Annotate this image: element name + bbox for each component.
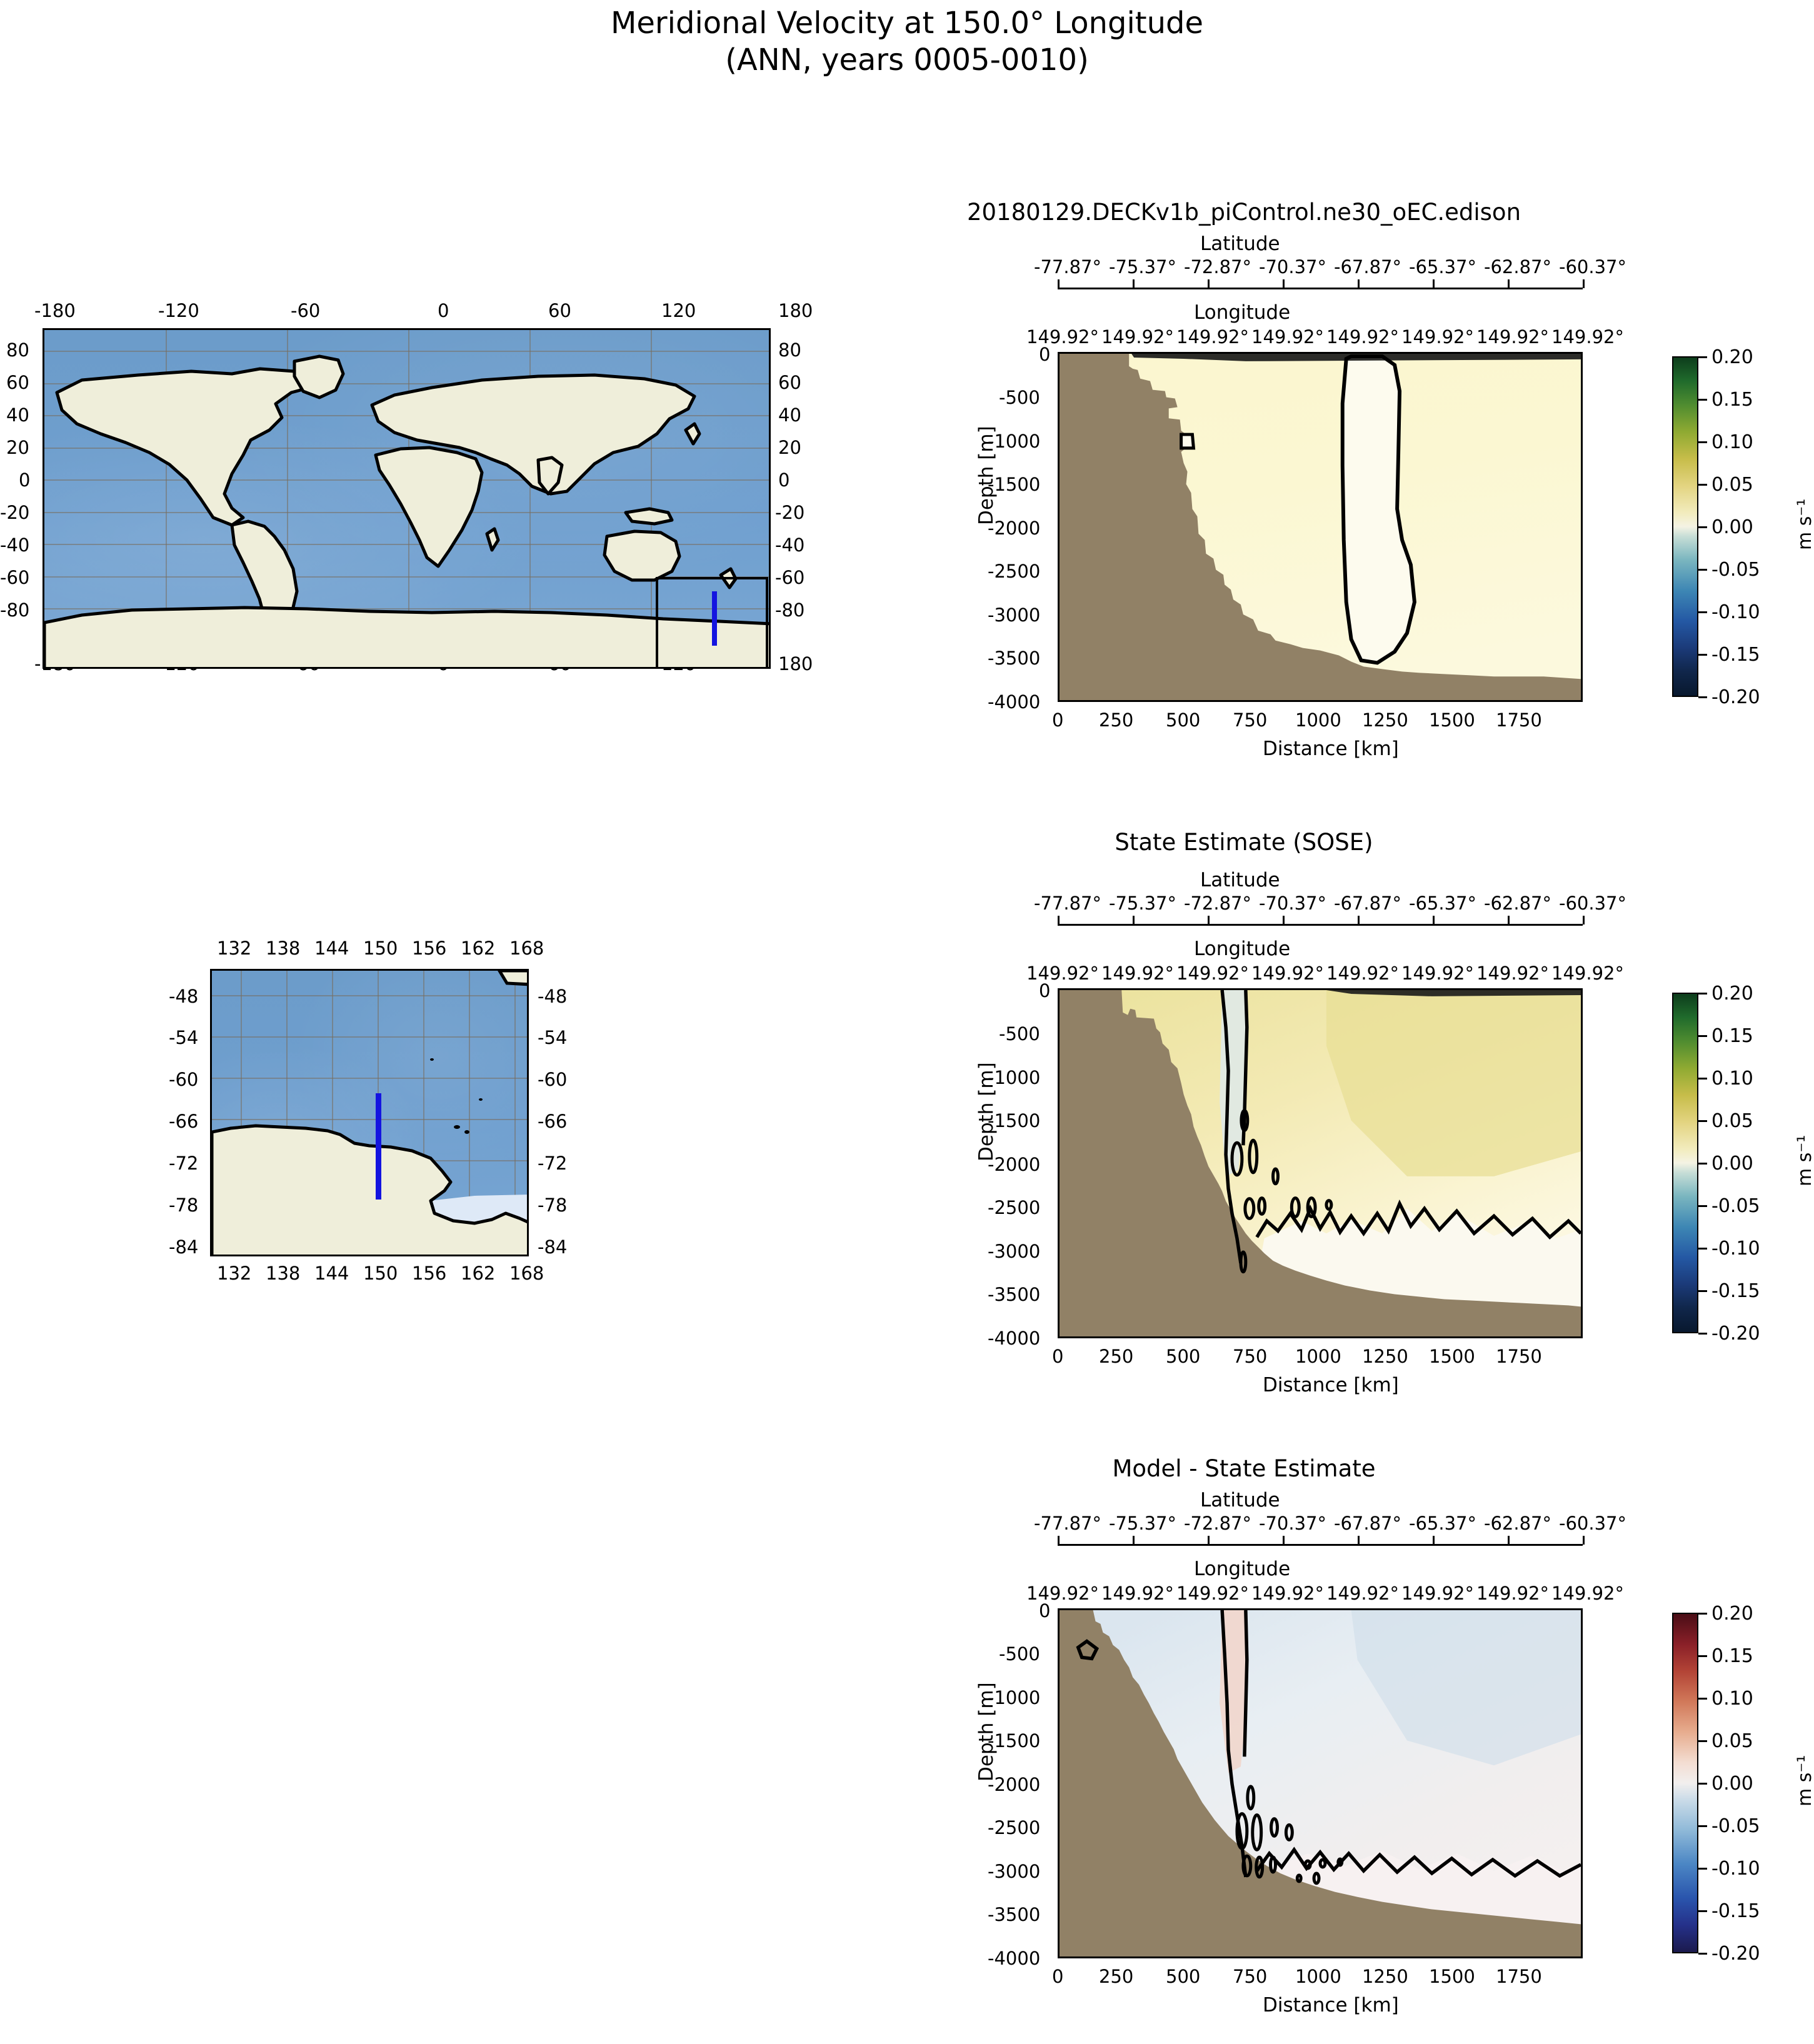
distance-axis-label: Distance [km] (1263, 1374, 1399, 1396)
depth-tick-label: -3500 (988, 1904, 1040, 1925)
world-xtick-label: -120 (158, 300, 199, 321)
region-ytick-label-left: -54 (169, 1027, 198, 1048)
top-axis-label: Latitude (1200, 869, 1280, 891)
antarctic-coastline-layer (212, 971, 529, 1256)
world-ytick-label-right: 0 (778, 469, 789, 491)
region-ytick-label-left: -78 (169, 1195, 198, 1216)
latitude-tick-label: -62.87° (1484, 1513, 1551, 1534)
world-ytick-label-right: -20 (775, 502, 804, 523)
distance-axis-label: Distance [km] (1263, 738, 1399, 760)
colorbar-tick (1698, 1910, 1707, 1912)
axis-tick (1583, 916, 1585, 924)
latitude-tick-label: -70.37° (1259, 1513, 1326, 1534)
colorbar-tick-label: -0.10 (1711, 1858, 1760, 1880)
colorbar-tick (1698, 654, 1707, 656)
colorbar-tick (1698, 1868, 1707, 1870)
colorbar-tick-label: -0.20 (1711, 1323, 1760, 1345)
panel-title: State Estimate (SOSE) (863, 829, 1625, 856)
latitude-axis-spine (1058, 1544, 1583, 1546)
colorbar-tick (1698, 696, 1707, 698)
depth-tick-label: -2500 (988, 1817, 1040, 1838)
world-ytick-label-left: 60 (6, 372, 29, 393)
region-ytick-label-right: -72 (538, 1153, 567, 1174)
axis-tick (1358, 1536, 1360, 1545)
region-ytick-label-right: -84 (538, 1236, 567, 1258)
longitude-tick-label: 149.92° (1551, 326, 1624, 348)
suptitle-line2: (ANN, years 0005-0010) (725, 43, 1089, 78)
colorbar-tick (1698, 484, 1707, 486)
velocity-difference-field (1060, 1610, 1581, 1958)
colorbar-tick-label: 0.15 (1711, 389, 1753, 411)
region-selection-box[interactable] (656, 577, 768, 669)
region-xtick-label-bottom: 168 (509, 1263, 544, 1284)
colorbar-tick-label: -0.10 (1711, 601, 1760, 623)
latitude-tick-label: -60.37° (1559, 256, 1626, 278)
latitude-tick-label: -75.37° (1109, 893, 1176, 914)
distance-tick-label: 1250 (1362, 1966, 1408, 1987)
latitude-axis-spine (1058, 288, 1583, 289)
depth-tick-label: -1500 (988, 1730, 1040, 1751)
world-ytick-label-left: -20 (0, 502, 29, 523)
latitude-tick-label: -67.87° (1334, 893, 1401, 914)
colorbar-tick (1698, 399, 1707, 401)
latitude-axis-spine (1058, 924, 1583, 926)
colorbar-tick (1698, 569, 1707, 571)
colorbar-tick-label: 0.00 (1711, 1773, 1753, 1795)
colorbar-tick-label: -0.05 (1711, 1815, 1760, 1837)
distance-axis-label: Distance [km] (1263, 1994, 1399, 2016)
region-xtick-label: 132 (217, 938, 251, 959)
distance-tick-label: 500 (1166, 1346, 1200, 1367)
depth-tick-label: -1500 (988, 1110, 1040, 1131)
distance-tick-label: 750 (1233, 1346, 1267, 1367)
latitude-tick-label: -65.37° (1409, 1513, 1476, 1534)
top-axis-label: Latitude (1200, 1489, 1280, 1511)
sose-section-axes[interactable] (1058, 988, 1583, 1338)
second-axis-label: Longitude (1194, 1558, 1290, 1580)
colorbar-tick-label: 0.00 (1711, 1153, 1753, 1175)
region-xtick-label-bottom: 132 (217, 1263, 251, 1284)
longitude-tick-label: 149.92° (1026, 326, 1099, 348)
depth-tick-label: -4000 (988, 691, 1040, 713)
latitude-tick-label: -62.87° (1484, 256, 1551, 278)
colorbar-tick-label: 0.05 (1711, 1730, 1753, 1752)
colorbar-tick-label: 0.15 (1711, 1645, 1753, 1667)
axis-tick (1208, 279, 1210, 288)
world-xtick-label-bottom: 180 (778, 653, 813, 674)
difference-section-panel: Model - State Estimate Latitude -77.87° … (863, 1444, 1813, 2006)
world-ytick-label-left: -80 (0, 599, 29, 621)
region-ytick-label-left: -66 (169, 1111, 198, 1132)
axis-tick (1508, 1536, 1510, 1545)
figure-canvas: Meridional Velocity at 150.0° Longitude(… (0, 0, 1814, 2044)
sose-section-panel: State Estimate (SOSE) Latitude -77.87° -… (863, 825, 1813, 1388)
colorbar-tick (1698, 993, 1707, 994)
depth-tick-label: -3500 (988, 648, 1040, 669)
region-ytick-label-right: -48 (538, 986, 567, 1007)
region-ytick-label-left: -48 (169, 986, 198, 1007)
longitude-tick-label: 149.92° (1026, 1583, 1099, 1604)
world-xtick-label: 180 (778, 300, 813, 321)
delta-colorbar[interactable] (1672, 993, 1698, 1333)
region-xtick-label: 156 (412, 938, 446, 959)
distance-tick-label: 250 (1099, 1346, 1133, 1367)
axis-tick (1133, 1536, 1135, 1545)
world-map-axes[interactable] (43, 328, 771, 669)
latitude-tick-label: -65.37° (1409, 256, 1476, 278)
panel-title: 20180129.DECKv1b_piControl.ne30_oEC.edis… (863, 199, 1625, 226)
region-ytick-label-right: -54 (538, 1027, 567, 1048)
axis-tick (1508, 279, 1510, 288)
colorbar-tick (1698, 1655, 1707, 1657)
transect-line (376, 1093, 381, 1200)
depth-tick-label: -3000 (988, 1861, 1040, 1882)
colorbar-tick-label: -0.15 (1711, 1280, 1760, 1302)
difference-colorbar[interactable] (1672, 1613, 1698, 1953)
axis-tick (1583, 279, 1585, 288)
world-ytick-label-left: 40 (6, 404, 29, 426)
depth-tick-label: -3500 (988, 1284, 1040, 1305)
depth-tick-label: -4000 (988, 1948, 1040, 1969)
depth-tick-label: -1000 (988, 431, 1040, 452)
colorbar-tick-label: 0.20 (1711, 346, 1753, 368)
colorbar-tick (1698, 1698, 1707, 1700)
region-xtick-label-bottom: 156 (412, 1263, 446, 1284)
distance-tick-label: 1250 (1362, 709, 1408, 731)
latitude-tick-label: -77.87° (1034, 256, 1101, 278)
depth-tick-label: -3000 (988, 1241, 1040, 1262)
colorbar-tick-label: 0.15 (1711, 1025, 1753, 1047)
world-ytick-label-left: -40 (0, 534, 29, 556)
axis-tick (1508, 916, 1510, 924)
longitude-tick-label: 149.92° (1176, 1583, 1249, 1604)
colorbar-unit-label: m s⁻¹ (1794, 499, 1814, 550)
depth-tick-label: 0 (1039, 980, 1050, 1001)
colorbar-tick-label: -0.15 (1711, 1900, 1760, 1922)
distance-tick-label: 0 (1052, 1966, 1063, 1987)
world-ytick-label-right: 40 (778, 404, 801, 426)
colorbar-tick (1698, 1078, 1707, 1080)
latitude-tick-label: -72.87° (1184, 1513, 1251, 1534)
second-axis-label: Longitude (1194, 301, 1290, 324)
longitude-tick-label: 149.92° (1476, 1583, 1549, 1604)
longitude-tick-label: 149.92° (1551, 963, 1624, 984)
colorbar-tick-label: -0.15 (1711, 644, 1760, 666)
longitude-tick-label: 149.92° (1101, 326, 1174, 348)
region-map-axes[interactable] (210, 969, 529, 1256)
figure-suptitle: Meridional Velocity at 150.0° Longitude(… (0, 5, 1814, 78)
latitude-tick-label: -72.87° (1184, 893, 1251, 914)
colorbar-unit-label: m s⁻¹ (1794, 1135, 1814, 1186)
region-xtick-label-bottom: 138 (266, 1263, 300, 1284)
latitude-tick-label: -77.87° (1034, 1513, 1101, 1534)
longitude-tick-label: 149.92° (1251, 1583, 1324, 1604)
latitude-tick-label: -60.37° (1559, 893, 1626, 914)
longitude-tick-label: 149.92° (1176, 963, 1249, 984)
colorbar-tick (1698, 1953, 1707, 1955)
depth-tick-label: -500 (999, 387, 1040, 408)
longitude-tick-label: 149.92° (1251, 326, 1324, 348)
depth-tick-label: -2000 (988, 518, 1040, 539)
depth-tick-label: -2000 (988, 1774, 1040, 1795)
colorbar-tick (1698, 1205, 1707, 1207)
world-ytick-label-left: 0 (19, 469, 30, 491)
colorbar-tick-label: 0.10 (1711, 1068, 1753, 1090)
longitude-tick-label: 149.92° (1476, 326, 1549, 348)
world-xtick-label: 0 (438, 300, 449, 321)
colorbar-tick-label: 0.20 (1711, 983, 1753, 1004)
colorbar-tick-label: 0.05 (1711, 474, 1753, 496)
distance-tick-label: 1750 (1496, 709, 1542, 731)
latitude-tick-label: -72.87° (1184, 256, 1251, 278)
axis-tick (1433, 1536, 1435, 1545)
axis-tick (1433, 916, 1435, 924)
world-ytick-label-right: -80 (775, 599, 804, 621)
region-xtick-label-bottom: 150 (363, 1263, 398, 1284)
longitude-tick-label: 149.92° (1101, 963, 1174, 984)
longitude-tick-label: 149.92° (1176, 326, 1249, 348)
depth-tick-label: -1000 (988, 1687, 1040, 1708)
longitude-tick-label: 149.92° (1401, 1583, 1474, 1604)
axis-tick (1358, 916, 1360, 924)
latitude-tick-label: -67.87° (1334, 1513, 1401, 1534)
world-ytick-label-left: 80 (6, 339, 29, 361)
latitude-tick-label: -60.37° (1559, 1513, 1626, 1534)
region-xtick-label: 168 (509, 938, 544, 959)
colorbar-tick (1698, 1740, 1707, 1742)
colorbar-tick-label: 0.05 (1711, 1110, 1753, 1132)
top-axis-label: Latitude (1200, 233, 1280, 255)
axis-tick (1358, 279, 1360, 288)
world-xtick-label: -180 (34, 300, 76, 321)
difference-section-axes[interactable] (1058, 1608, 1583, 1958)
distance-tick-label: 1500 (1429, 1346, 1475, 1367)
colorbar-tick (1698, 611, 1707, 613)
latitude-tick-label: -62.87° (1484, 893, 1551, 914)
longitude-tick-label: 149.92° (1326, 963, 1399, 984)
region-ytick-label-right: -60 (538, 1069, 567, 1090)
longitude-tick-label: 149.92° (1401, 963, 1474, 984)
world-ytick-label-right: 80 (778, 339, 801, 361)
world-ytick-label-right: -40 (775, 534, 804, 556)
colorbar-tick (1698, 1163, 1707, 1165)
depth-tick-label: 0 (1039, 344, 1050, 365)
colorbar-tick (1698, 1035, 1707, 1037)
model-section-axes[interactable] (1058, 352, 1583, 702)
axis-tick (1283, 1536, 1285, 1545)
distance-tick-label: 750 (1233, 709, 1267, 731)
longitude-tick-label: 149.92° (1326, 326, 1399, 348)
distance-tick-label: 500 (1166, 1966, 1200, 1987)
colorbar-unit-label: m s⁻¹ (1794, 1755, 1814, 1806)
world-ytick-label-right: 20 (778, 437, 801, 458)
latitude-tick-label: -65.37° (1409, 893, 1476, 914)
region-xtick-label: 162 (461, 938, 495, 959)
colorbar-tick-label: 0.10 (1711, 1688, 1753, 1710)
world-ytick-label-left: -60 (0, 567, 29, 588)
depth-tick-label: 0 (1039, 1600, 1050, 1621)
distance-tick-label: 1750 (1496, 1346, 1542, 1367)
second-axis-label: Longitude (1194, 938, 1290, 960)
colorbar-tick (1698, 1333, 1707, 1335)
model-section-panel: 20180129.DECKv1b_piControl.ne30_oEC.edis… (863, 188, 1813, 750)
distance-tick-label: 1500 (1429, 709, 1475, 731)
axis-tick (1583, 1536, 1585, 1545)
colorbar-tick (1698, 441, 1707, 443)
axis-tick (1133, 279, 1135, 288)
colorbar-tick (1698, 526, 1707, 528)
colorbar-tick-label: -0.05 (1711, 1195, 1760, 1217)
colorbar-tick-label: -0.05 (1711, 559, 1760, 581)
axis-tick (1058, 916, 1060, 924)
panel-title: Model - State Estimate (863, 1455, 1625, 1482)
colorbar-tick (1698, 356, 1707, 358)
distance-tick-label: 0 (1052, 1346, 1063, 1367)
region-ytick-label-left: -72 (169, 1153, 198, 1174)
colorbar-tick (1698, 1290, 1707, 1292)
region-xtick-label-bottom: 162 (461, 1263, 495, 1284)
colorbar-tick (1698, 1783, 1707, 1785)
axis-tick (1133, 916, 1135, 924)
distance-tick-label: 1250 (1362, 1346, 1408, 1367)
longitude-tick-label: 149.92° (1476, 963, 1549, 984)
region-map-panel: 132 138 144 150 156 162 168 132 138 144 … (150, 938, 825, 1300)
distance-tick-label: 1000 (1295, 1966, 1341, 1987)
region-xtick-label: 144 (314, 938, 349, 959)
axis-tick (1058, 1536, 1060, 1545)
depth-tick-label: -500 (999, 1643, 1040, 1665)
world-xtick-label: -60 (291, 300, 320, 321)
region-ytick-label-right: -66 (538, 1111, 567, 1132)
latitude-tick-label: -75.37° (1109, 256, 1176, 278)
distance-tick-label: 500 (1166, 709, 1200, 731)
axis-tick (1208, 1536, 1210, 1545)
longitude-tick-label: 149.92° (1101, 1583, 1174, 1604)
latitude-tick-label: -75.37° (1109, 1513, 1176, 1534)
latitude-tick-label: -67.87° (1334, 256, 1401, 278)
colorbar-tick (1698, 1825, 1707, 1827)
latitude-tick-label: -70.37° (1259, 256, 1326, 278)
axis-tick (1058, 279, 1060, 288)
depth-tick-label: -1000 (988, 1067, 1040, 1088)
region-xtick-label-bottom: 144 (314, 1263, 349, 1284)
world-map-panel: -180 -120 -60 0 60 120 180 -180 -120 -60… (0, 300, 825, 700)
depth-tick-label: -1500 (988, 474, 1040, 495)
world-ytick-label-right: -60 (775, 567, 804, 588)
colorbar-tick-label: 0.20 (1711, 1603, 1753, 1625)
delta-colorbar[interactable] (1672, 356, 1698, 697)
distance-tick-label: 0 (1052, 709, 1063, 731)
longitude-tick-label: 149.92° (1326, 1583, 1399, 1604)
colorbar-tick-label: 0.10 (1711, 431, 1753, 453)
suptitle-line1: Meridional Velocity at 150.0° Longitude (611, 6, 1203, 41)
distance-tick-label: 750 (1233, 1966, 1267, 1987)
distance-tick-label: 1500 (1429, 1966, 1475, 1987)
colorbar-tick-label: -0.20 (1711, 686, 1760, 708)
axis-tick (1283, 916, 1285, 924)
region-xtick-label: 138 (266, 938, 300, 959)
world-xtick-label: 60 (548, 300, 571, 321)
distance-tick-label: 250 (1099, 709, 1133, 731)
longitude-tick-label: 149.92° (1251, 963, 1324, 984)
colorbar-tick (1698, 1613, 1707, 1615)
world-xtick-label: 120 (661, 300, 696, 321)
depth-tick-label: -2500 (988, 1197, 1040, 1218)
velocity-field (1060, 354, 1581, 701)
depth-tick-label: -2000 (988, 1154, 1040, 1175)
depth-tick-label: -2500 (988, 561, 1040, 582)
depth-tick-label: -3000 (988, 604, 1040, 626)
depth-tick-label: -4000 (988, 1328, 1040, 1349)
region-ytick-label-left: -84 (169, 1236, 198, 1258)
velocity-field (1060, 990, 1581, 1338)
colorbar-tick-label: 0.00 (1711, 516, 1753, 538)
longitude-tick-label: 149.92° (1026, 963, 1099, 984)
latitude-tick-label: -70.37° (1259, 893, 1326, 914)
longitude-tick-label: 149.92° (1551, 1583, 1624, 1604)
longitude-tick-label: 149.92° (1401, 326, 1474, 348)
latitude-tick-label: -77.87° (1034, 893, 1101, 914)
world-ytick-label-right: 60 (778, 372, 801, 393)
region-xtick-label: 150 (363, 938, 398, 959)
colorbar-tick-label: -0.10 (1711, 1238, 1760, 1260)
colorbar-tick (1698, 1248, 1707, 1250)
distance-tick-label: 250 (1099, 1966, 1133, 1987)
colorbar-tick-label: -0.20 (1711, 1943, 1760, 1965)
distance-tick-label: 1750 (1496, 1966, 1542, 1987)
axis-tick (1433, 279, 1435, 288)
axis-tick (1283, 279, 1285, 288)
world-ytick-label-left: 20 (6, 437, 29, 458)
region-ytick-label-left: -60 (169, 1069, 198, 1090)
colorbar-tick (1698, 1120, 1707, 1122)
distance-tick-label: 1000 (1295, 1346, 1341, 1367)
depth-tick-label: -500 (999, 1023, 1040, 1045)
region-ytick-label-right: -78 (538, 1195, 567, 1216)
distance-tick-label: 1000 (1295, 709, 1341, 731)
axis-tick (1208, 916, 1210, 924)
